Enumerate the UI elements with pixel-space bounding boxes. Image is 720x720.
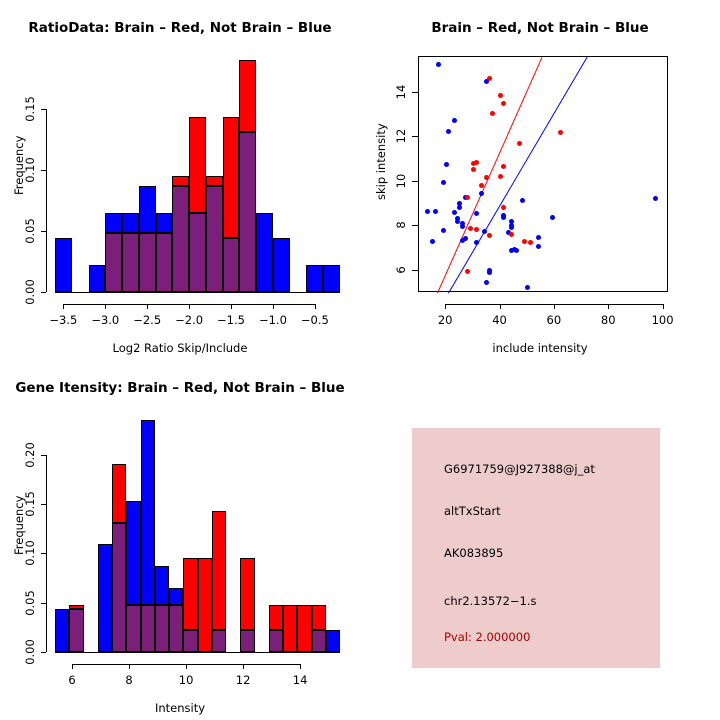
histogram-bar-brain xyxy=(112,464,126,522)
y-axis-line xyxy=(46,455,47,652)
info-line-accession: AK083895 xyxy=(444,546,503,560)
scatter-point-brain xyxy=(468,226,473,231)
y-axis-tick xyxy=(41,109,46,110)
histogram-bar-overlap xyxy=(112,523,126,652)
gene-histogram-plot-area xyxy=(55,420,340,652)
scatter-point-brain xyxy=(501,164,506,169)
y-axis-line xyxy=(46,109,47,292)
y-axis-tick-label: 0.05 xyxy=(23,590,37,616)
histogram-bar-brain xyxy=(198,558,212,652)
histogram-bar-overlap xyxy=(156,233,173,292)
y-axis-tick xyxy=(412,181,418,182)
scatter-point-not-brain xyxy=(425,209,430,214)
y-axis-tick xyxy=(41,292,46,293)
scatter-point-not-brain xyxy=(452,118,457,123)
scatter-point-brain xyxy=(474,227,479,232)
y-axis-tick-label: 6 xyxy=(394,266,408,273)
scatter-point-not-brain xyxy=(441,228,446,233)
scatter-point-brain xyxy=(528,240,533,245)
histogram-bar-overlap xyxy=(122,233,139,292)
regression-line xyxy=(437,57,543,293)
histogram-bar-overlap xyxy=(189,213,206,292)
y-axis-tick-label: 0.10 xyxy=(23,540,37,566)
info-line-event-type: altTxStart xyxy=(444,504,501,518)
x-axis-tick xyxy=(105,304,106,309)
panel-gene-histogram: Gene Itensity: Brain – Red, Not Brain – … xyxy=(0,360,360,720)
scatter-point-brain xyxy=(517,141,522,146)
scatter-point-brain xyxy=(471,161,476,166)
annotation-panel: G6971759@J927388@j_ataltTxStartAK083895c… xyxy=(412,428,660,668)
x-axis-tick xyxy=(663,304,664,309)
histogram-bar-not-brain xyxy=(273,238,290,292)
histogram-bar-overlap xyxy=(141,605,155,652)
histogram-bar-not-brain xyxy=(105,213,122,234)
x-axis-tick xyxy=(300,664,301,669)
x-axis-tick-label: −3.5 xyxy=(49,313,77,327)
x-axis-tick xyxy=(189,304,190,309)
histogram-bar-overlap xyxy=(239,132,256,292)
info-line-pvalue: Pval: 2.000000 xyxy=(444,630,530,644)
y-axis-tick xyxy=(412,92,418,93)
histogram-bar-brain xyxy=(223,117,240,238)
scatter-point-not-brain xyxy=(436,62,441,67)
info-line-locus: chr2.13572−1.s xyxy=(444,594,537,608)
scatter-point-brain xyxy=(479,183,484,188)
scatter-point-not-brain xyxy=(474,211,479,216)
histogram-bar-not-brain xyxy=(89,265,106,292)
scatter-point-brain xyxy=(509,232,514,237)
x-axis-tick-label: −1.5 xyxy=(217,313,245,327)
scatter-point-not-brain xyxy=(653,196,658,201)
scatter-point-not-brain xyxy=(536,235,541,240)
scatter-plot-area xyxy=(418,56,668,292)
histogram-bar-not-brain xyxy=(122,213,139,234)
histogram-bar-not-brain xyxy=(141,420,155,605)
scatter-title: Brain – Red, Not Brain – Blue xyxy=(360,20,720,36)
ratio-histogram-title: RatioData: Brain – Red, Not Brain – Blue xyxy=(0,20,360,36)
scatter-point-not-brain xyxy=(446,129,451,134)
histogram-bar-not-brain xyxy=(155,566,169,605)
figure-canvas: RatioData: Brain – Red, Not Brain – Blue… xyxy=(0,0,720,720)
x-axis-tick-label: −1.0 xyxy=(259,313,287,327)
x-axis-tick-label: 6 xyxy=(68,673,75,687)
y-axis-tick xyxy=(41,553,46,554)
histogram-bar-brain xyxy=(297,605,311,652)
scatter-point-not-brain xyxy=(536,244,541,249)
histogram-baseline xyxy=(55,292,340,293)
histogram-bar-brain xyxy=(283,605,297,652)
histogram-bar-overlap xyxy=(172,186,189,292)
y-axis-tick-label: 0.00 xyxy=(23,639,37,665)
histogram-bar-overlap xyxy=(126,605,140,652)
scatter-point-brain xyxy=(471,167,476,172)
histogram-bar-overlap xyxy=(105,233,122,292)
scatter-point-brain xyxy=(498,174,503,179)
scatter-point-brain xyxy=(522,239,527,244)
y-axis-tick xyxy=(41,455,46,456)
histogram-bar-brain xyxy=(212,511,226,630)
histogram-bar-not-brain xyxy=(55,238,72,292)
scatter-point-not-brain xyxy=(474,240,479,245)
y-axis-tick-label: 0.00 xyxy=(23,279,37,305)
x-axis-tick xyxy=(608,304,609,309)
panel-ratio-histogram: RatioData: Brain – Red, Not Brain – Blue… xyxy=(0,0,360,360)
scatter-point-not-brain xyxy=(520,198,525,203)
histogram-bar-brain xyxy=(312,605,326,631)
y-axis-tick xyxy=(41,652,46,653)
regression-line xyxy=(448,57,587,293)
y-axis-tick-label: 0.10 xyxy=(23,157,37,183)
histogram-bar-not-brain xyxy=(156,213,173,234)
histogram-bar-brain xyxy=(172,176,189,186)
scatter-point-not-brain xyxy=(482,229,487,234)
x-axis-tick-label: −2.5 xyxy=(133,313,161,327)
x-axis-tick-label: 10 xyxy=(179,673,194,687)
ratio-histogram-xlabel: Log2 Ratio Skip/Include xyxy=(0,341,360,355)
histogram-bar-overlap xyxy=(223,238,240,292)
scatter-point-brain xyxy=(465,269,470,274)
y-axis-tick-label: 0.15 xyxy=(23,491,37,517)
scatter-point-not-brain xyxy=(460,224,465,229)
histogram-bar-overlap xyxy=(269,630,283,652)
x-axis-tick xyxy=(231,304,232,309)
y-axis-tick-label: 10 xyxy=(394,173,408,188)
scatter-point-not-brain xyxy=(514,248,519,253)
histogram-bar-not-brain xyxy=(169,588,183,605)
x-axis-tick xyxy=(554,304,555,309)
scatter-point-brain xyxy=(501,101,506,106)
scatter-point-not-brain xyxy=(441,180,446,185)
y-axis-tick xyxy=(412,225,418,226)
x-axis-tick xyxy=(129,664,130,669)
scatter-point-not-brain xyxy=(457,205,462,210)
y-axis-tick xyxy=(41,603,46,604)
x-axis-tick xyxy=(147,304,148,309)
x-axis-tick xyxy=(445,304,446,309)
histogram-bar-brain xyxy=(183,558,197,630)
y-axis-tick-label: 8 xyxy=(394,222,408,229)
y-axis-tick-label: 14 xyxy=(394,84,408,99)
histogram-bar-brain xyxy=(240,558,254,630)
histogram-bar-brain xyxy=(269,605,283,631)
histogram-bar-overlap xyxy=(69,609,83,652)
x-axis-tick-label: 40 xyxy=(492,313,507,327)
histogram-baseline xyxy=(55,652,340,653)
scatter-point-brain xyxy=(484,175,489,180)
x-axis-tick-label: 20 xyxy=(438,313,453,327)
y-axis-tick xyxy=(41,504,46,505)
scatter-point-not-brain xyxy=(525,285,530,290)
y-axis-tick-label: 0.05 xyxy=(23,218,37,244)
scatter-point-not-brain xyxy=(509,225,514,230)
histogram-bar-overlap xyxy=(206,186,223,292)
scatter-point-not-brain xyxy=(455,219,460,224)
scatter-point-not-brain xyxy=(433,209,438,214)
scatter-point-not-brain xyxy=(444,162,449,167)
x-axis-tick xyxy=(72,664,73,669)
scatter-point-brain xyxy=(490,111,495,116)
scatter-point-not-brain xyxy=(550,215,555,220)
histogram-bar-overlap xyxy=(169,605,183,652)
histogram-bar-not-brain xyxy=(256,213,273,292)
y-axis-tick xyxy=(41,231,46,232)
histogram-bar-brain xyxy=(239,60,256,132)
info-line-probe-id: G6971759@J927388@j_at xyxy=(444,462,595,476)
x-axis-tick xyxy=(243,664,244,669)
scatter-point-brain xyxy=(465,195,470,200)
x-axis-tick-label: −3.0 xyxy=(91,313,119,327)
y-axis-tick-label: 0.15 xyxy=(23,96,37,122)
scatter-point-brain xyxy=(558,130,563,135)
x-axis-tick-label: 60 xyxy=(547,313,562,327)
scatter-point-not-brain xyxy=(430,239,435,244)
histogram-bar-brain xyxy=(189,117,206,212)
histogram-bar-brain xyxy=(69,605,83,609)
histogram-bar-not-brain xyxy=(326,630,340,652)
histogram-bar-not-brain xyxy=(98,544,112,652)
scatter-point-not-brain xyxy=(501,215,506,220)
histogram-bar-brain xyxy=(206,176,223,186)
x-axis-tick xyxy=(186,664,187,669)
scatter-point-not-brain xyxy=(452,210,457,215)
x-axis-tick xyxy=(500,304,501,309)
histogram-bar-overlap xyxy=(312,630,326,652)
histogram-bar-not-brain xyxy=(126,501,140,605)
x-axis-tick-label: −2.0 xyxy=(175,313,203,327)
x-axis-tick-label: 100 xyxy=(652,313,674,327)
scatter-ylabel: skip intensity xyxy=(374,123,388,200)
x-axis-tick xyxy=(273,304,274,309)
panel-scatter: Brain – Red, Not Brain – Blue skip inten… xyxy=(360,0,720,360)
histogram-bar-overlap xyxy=(240,630,254,652)
x-axis-tick-label: −0.5 xyxy=(301,313,329,327)
histogram-bar-not-brain xyxy=(55,609,69,652)
ratio-histogram-plot-area xyxy=(55,60,340,292)
histogram-bar-not-brain xyxy=(306,265,323,292)
gene-histogram-title: Gene Itensity: Brain – Red, Not Brain – … xyxy=(0,380,360,396)
scatter-point-not-brain xyxy=(487,270,492,275)
y-axis-tick-label: 0.20 xyxy=(23,442,37,468)
histogram-bar-not-brain xyxy=(323,265,340,292)
scatter-point-brain xyxy=(487,76,492,81)
y-axis-tick-label: 12 xyxy=(394,129,408,144)
x-axis-tick-label: 8 xyxy=(125,673,132,687)
histogram-bar-not-brain xyxy=(139,186,156,234)
y-axis-tick xyxy=(412,136,418,137)
panel-info: G6971759@J927388@j_ataltTxStartAK083895c… xyxy=(360,360,720,720)
histogram-bar-overlap xyxy=(183,630,197,652)
scatter-xlabel: include intensity xyxy=(360,341,720,355)
gene-histogram-xlabel: Intensity xyxy=(0,701,360,715)
x-axis-tick xyxy=(315,304,316,309)
scatter-point-not-brain xyxy=(509,248,514,253)
scatter-point-brain xyxy=(501,205,506,210)
x-axis-tick-label: 14 xyxy=(293,673,308,687)
scatter-point-not-brain xyxy=(479,191,484,196)
scatter-point-not-brain xyxy=(460,238,465,243)
x-axis-tick xyxy=(63,304,64,309)
y-axis-tick xyxy=(41,170,46,171)
scatter-point-not-brain xyxy=(484,280,489,285)
scatter-point-brain xyxy=(498,93,503,98)
x-axis-tick-label: 80 xyxy=(601,313,616,327)
histogram-bar-overlap xyxy=(155,605,169,652)
histogram-bar-overlap xyxy=(139,233,156,292)
y-axis-tick xyxy=(412,270,418,271)
x-axis-tick-label: 12 xyxy=(236,673,251,687)
scatter-point-brain xyxy=(487,233,492,238)
histogram-bar-overlap xyxy=(212,630,226,652)
